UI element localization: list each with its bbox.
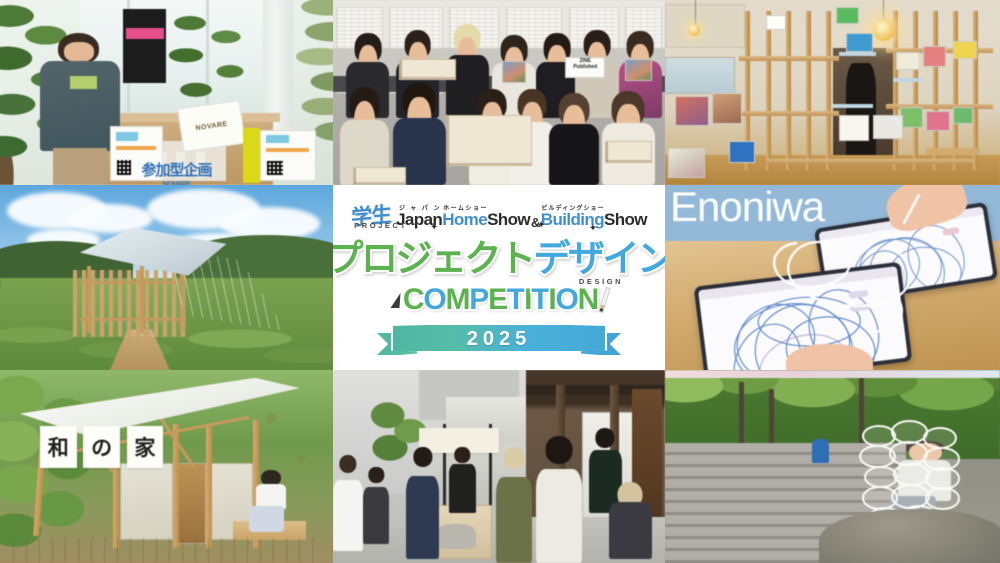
visitor-figure [333, 455, 363, 552]
collage-cell-ring-pavilion[interactable] [665, 370, 1000, 563]
visitor-legs [249, 506, 284, 532]
visitor-head [545, 436, 572, 464]
visitor-head [413, 447, 432, 467]
display-card [953, 41, 976, 60]
visitor-clothing [406, 476, 439, 559]
visitor-clothing [363, 487, 390, 544]
staff-cap [503, 447, 524, 469]
enoniwa-photo: Enoniwa [665, 185, 1000, 370]
novare-tag-sign: NOVARE [177, 99, 246, 152]
star-icon: ✦ [589, 223, 597, 234]
visitor-figure [363, 467, 390, 544]
display-card [896, 52, 919, 71]
panel-accent-bar [116, 146, 156, 150]
person-shirt [40, 61, 120, 151]
student-top [549, 124, 599, 185]
seated-visitor-figure [609, 482, 652, 559]
top-edge-bleed [665, 370, 1000, 378]
pavilion-photo [0, 185, 333, 370]
visitor-head [596, 428, 615, 448]
group-photo: ZINE Published [333, 0, 665, 185]
translucent-panel [120, 463, 173, 540]
visitor-clothing [609, 502, 652, 559]
participatory-project-sign: 参加型企画 NOVARE [133, 159, 220, 185]
star-icon: ✦ [537, 220, 545, 231]
collage-cell-booth-novare[interactable]: NOVARE 参加型企画 NOVARE [0, 0, 333, 185]
enoniwa-title: Enoniwa [670, 186, 824, 228]
ring-pavilion-photo [665, 370, 1000, 563]
display-card [953, 107, 973, 124]
zine-booklet [625, 59, 652, 81]
collage-cell-a-frame-pavilion[interactable] [0, 185, 333, 370]
booth-photo: NOVARE 参加型企画 NOVARE [0, 0, 333, 185]
wa-no-ie-photo: 和 の 家 [0, 370, 333, 563]
student-figure [549, 93, 599, 186]
zine-sign-status: Published [573, 64, 597, 70]
wooden-stool [926, 148, 980, 155]
street-photo [333, 370, 665, 563]
collage-cell-timber-frame-interior[interactable] [665, 0, 1000, 185]
competition-logo-lockup: 学生 JapanジャパンHomeホームショーShow&Buildingビルディン… [333, 185, 665, 370]
competition-label: COMPETITION [403, 283, 598, 317]
visitor-head [368, 467, 383, 483]
hand-lower [786, 344, 873, 370]
seated-visitor [256, 470, 286, 532]
visitor-top [256, 484, 286, 509]
pencil-icon [598, 287, 610, 313]
building-ruby: ビルディングショー [541, 206, 604, 212]
triangle-ruler-icon [390, 293, 400, 308]
distant-pedestrian [812, 439, 829, 462]
student-figure [602, 91, 655, 185]
visitor-figure [449, 447, 476, 513]
dot-pattern [266, 135, 289, 143]
project-label: PROJECT [354, 221, 408, 230]
timber-deck [13, 538, 319, 563]
light-bulb-icon [873, 19, 895, 41]
blue-crate [729, 141, 756, 163]
collage-cell-student-group-photo[interactable]: ZINE Published [333, 0, 665, 185]
display-card [668, 148, 705, 178]
star-icon: ✦ [430, 222, 438, 233]
architectural-model [605, 141, 651, 163]
banner-panel-1: 和 [40, 426, 77, 468]
architectural-model [399, 59, 455, 79]
collage-cell-competition-logo[interactable]: 学生 JapanジャパンHomeホームショーShow&Buildingビルディン… [333, 185, 665, 370]
display-card [839, 115, 869, 141]
person-trousers [53, 148, 107, 185]
display-card [923, 46, 946, 66]
zine-booklet [502, 61, 525, 83]
collage-cell-enoniwa-tablets[interactable]: Enoniwa [665, 185, 1000, 370]
stall-sign-plate [436, 524, 476, 549]
year-ribbon: 2025 [375, 319, 623, 359]
katakana-title: プロジェクトデザイン [333, 238, 665, 279]
display-card [675, 96, 709, 126]
visitor-head [339, 455, 356, 473]
banner-char-3: 家 [134, 432, 155, 462]
banner-panel-3: 家 [127, 426, 164, 468]
visitor-clothing [333, 480, 363, 551]
wall-cabinet [665, 4, 745, 48]
visitor-head [455, 447, 470, 463]
banner-char-2: の [91, 432, 112, 462]
qr-code-icon [117, 160, 131, 175]
panel-accent-bar [266, 148, 309, 151]
home-ruby: ホームショー [442, 206, 487, 212]
display-card [712, 93, 742, 124]
zine-published-sign: ZINE Published [565, 57, 605, 77]
person-name-badge [70, 76, 97, 88]
banner-char-1: 和 [48, 432, 69, 462]
yellow-banner [243, 128, 260, 184]
person-face [64, 42, 94, 62]
wooden-door [176, 463, 206, 544]
year-label: 2025 [375, 328, 623, 351]
collage-cell-wa-no-ie-pavilion[interactable]: 和 の 家 [0, 370, 333, 563]
japan-ruby: ジャパン [396, 206, 442, 212]
collage-cell-street-market[interactable] [333, 370, 665, 563]
display-card [846, 33, 873, 52]
presenter-person [40, 30, 120, 185]
banner-panel-2: の [83, 426, 120, 468]
display-card [926, 111, 949, 131]
visitor-figure [536, 436, 582, 563]
qr-code-icon [267, 161, 282, 175]
dollhouse-section-model [446, 115, 532, 167]
staff-apron [496, 477, 533, 563]
logo-competition-row: COMPETITION [391, 283, 607, 317]
display-card [873, 115, 903, 139]
participatory-project-label: 参加型企画 [141, 162, 211, 179]
architectural-model [353, 167, 406, 186]
dot-pattern [116, 132, 138, 141]
stall-staff-figure [496, 447, 533, 563]
display-card [900, 107, 923, 127]
novare-tag-label: NOVARE [178, 101, 245, 152]
interior-photo [665, 0, 1000, 185]
boulder [819, 509, 1000, 563]
visitor-clothing [536, 469, 582, 563]
show-label-1: Show [487, 210, 530, 230]
booth-info-panel-right [260, 130, 317, 182]
visitor-figure [406, 447, 439, 559]
blackboard-highlight [126, 28, 164, 38]
display-card [766, 15, 786, 30]
display-card [836, 7, 859, 24]
booth-blackboard-sign [123, 9, 166, 83]
interior-window [665, 57, 735, 94]
logo-katakana-row: PROJECT ✦ ✦ ✦ プロジェクトデザイン DESIGN [333, 228, 665, 282]
show-label-2: Show [604, 210, 647, 230]
visitor-clothing [449, 464, 476, 513]
home-label: Home [442, 210, 487, 229]
photo-collage: NOVARE 参加型企画 NOVARE [0, 0, 1000, 563]
